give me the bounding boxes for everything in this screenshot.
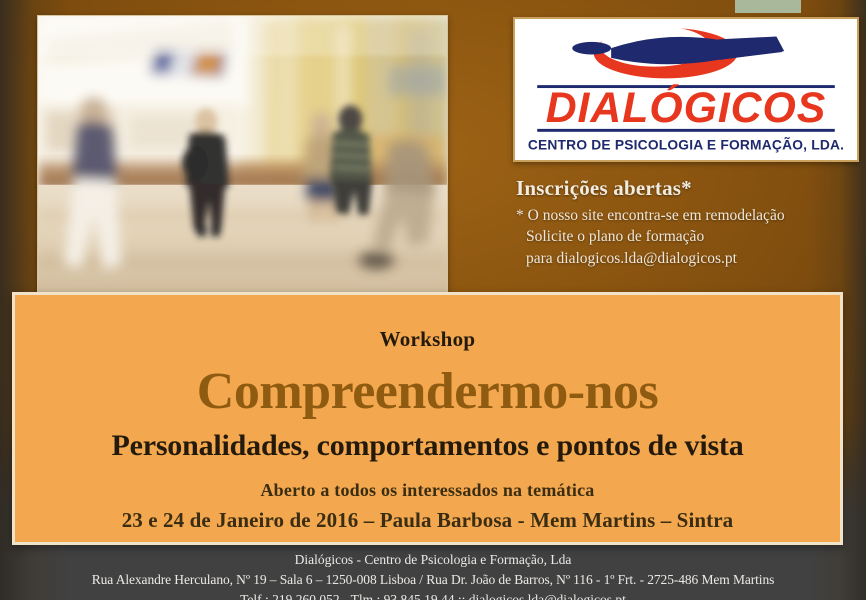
footer-address: Rua Alexandre Herculano, Nº 19 – Sala 6 … <box>0 570 866 590</box>
footer-block: Dialógicos - Centro de Psicologia e Form… <box>0 550 866 600</box>
top-green-chip <box>735 0 801 13</box>
registration-line-1: * O nosso site encontra-se em remodelaçã… <box>516 205 862 226</box>
hero-photo <box>37 15 448 297</box>
logo-wordmark: DIALÓGICOS <box>546 84 827 132</box>
registration-line-2: Solicite o plano de formação <box>516 226 862 247</box>
logo-tagline: CENTRO DE PSICOLOGIA E FORMAÇÃO, LDA. <box>528 135 844 152</box>
workshop-subtitle: Personalidades, comportamentos e pontos … <box>15 430 840 462</box>
poster-canvas: DIALÓGICOS CENTRO DE PSICOLOGIA E FORMAÇ… <box>0 0 866 600</box>
registration-heading: Inscrições abertas* <box>516 176 862 201</box>
workshop-date-line: 23 e 24 de Janeiro de 2016 – Paula Barbo… <box>15 508 840 533</box>
workshop-audience: Aberto a todos os interessados na temáti… <box>15 480 840 501</box>
footer-contacts: Telf.: 219 260 052 - Tlm.: 93 845 19 44 … <box>0 590 866 600</box>
workshop-panel: Workshop Compreendermo-nos Personalidade… <box>12 292 843 545</box>
registration-line-3: para dialogicos.lda@dialogicos.pt <box>516 248 862 269</box>
workshop-label: Workshop <box>15 327 840 352</box>
hero-photo-illustration <box>38 16 447 296</box>
dialogicos-logo: DIALÓGICOS CENTRO DE PSICOLOGIA E FORMAÇ… <box>515 19 857 160</box>
workshop-title: Compreendermo-nos <box>15 366 840 418</box>
footer-company: Dialógicos - Centro de Psicologia e Form… <box>0 550 866 570</box>
company-logo-card: DIALÓGICOS CENTRO DE PSICOLOGIA E FORMAÇ… <box>513 17 859 162</box>
registration-block: Inscrições abertas* * O nosso site encon… <box>516 176 862 269</box>
